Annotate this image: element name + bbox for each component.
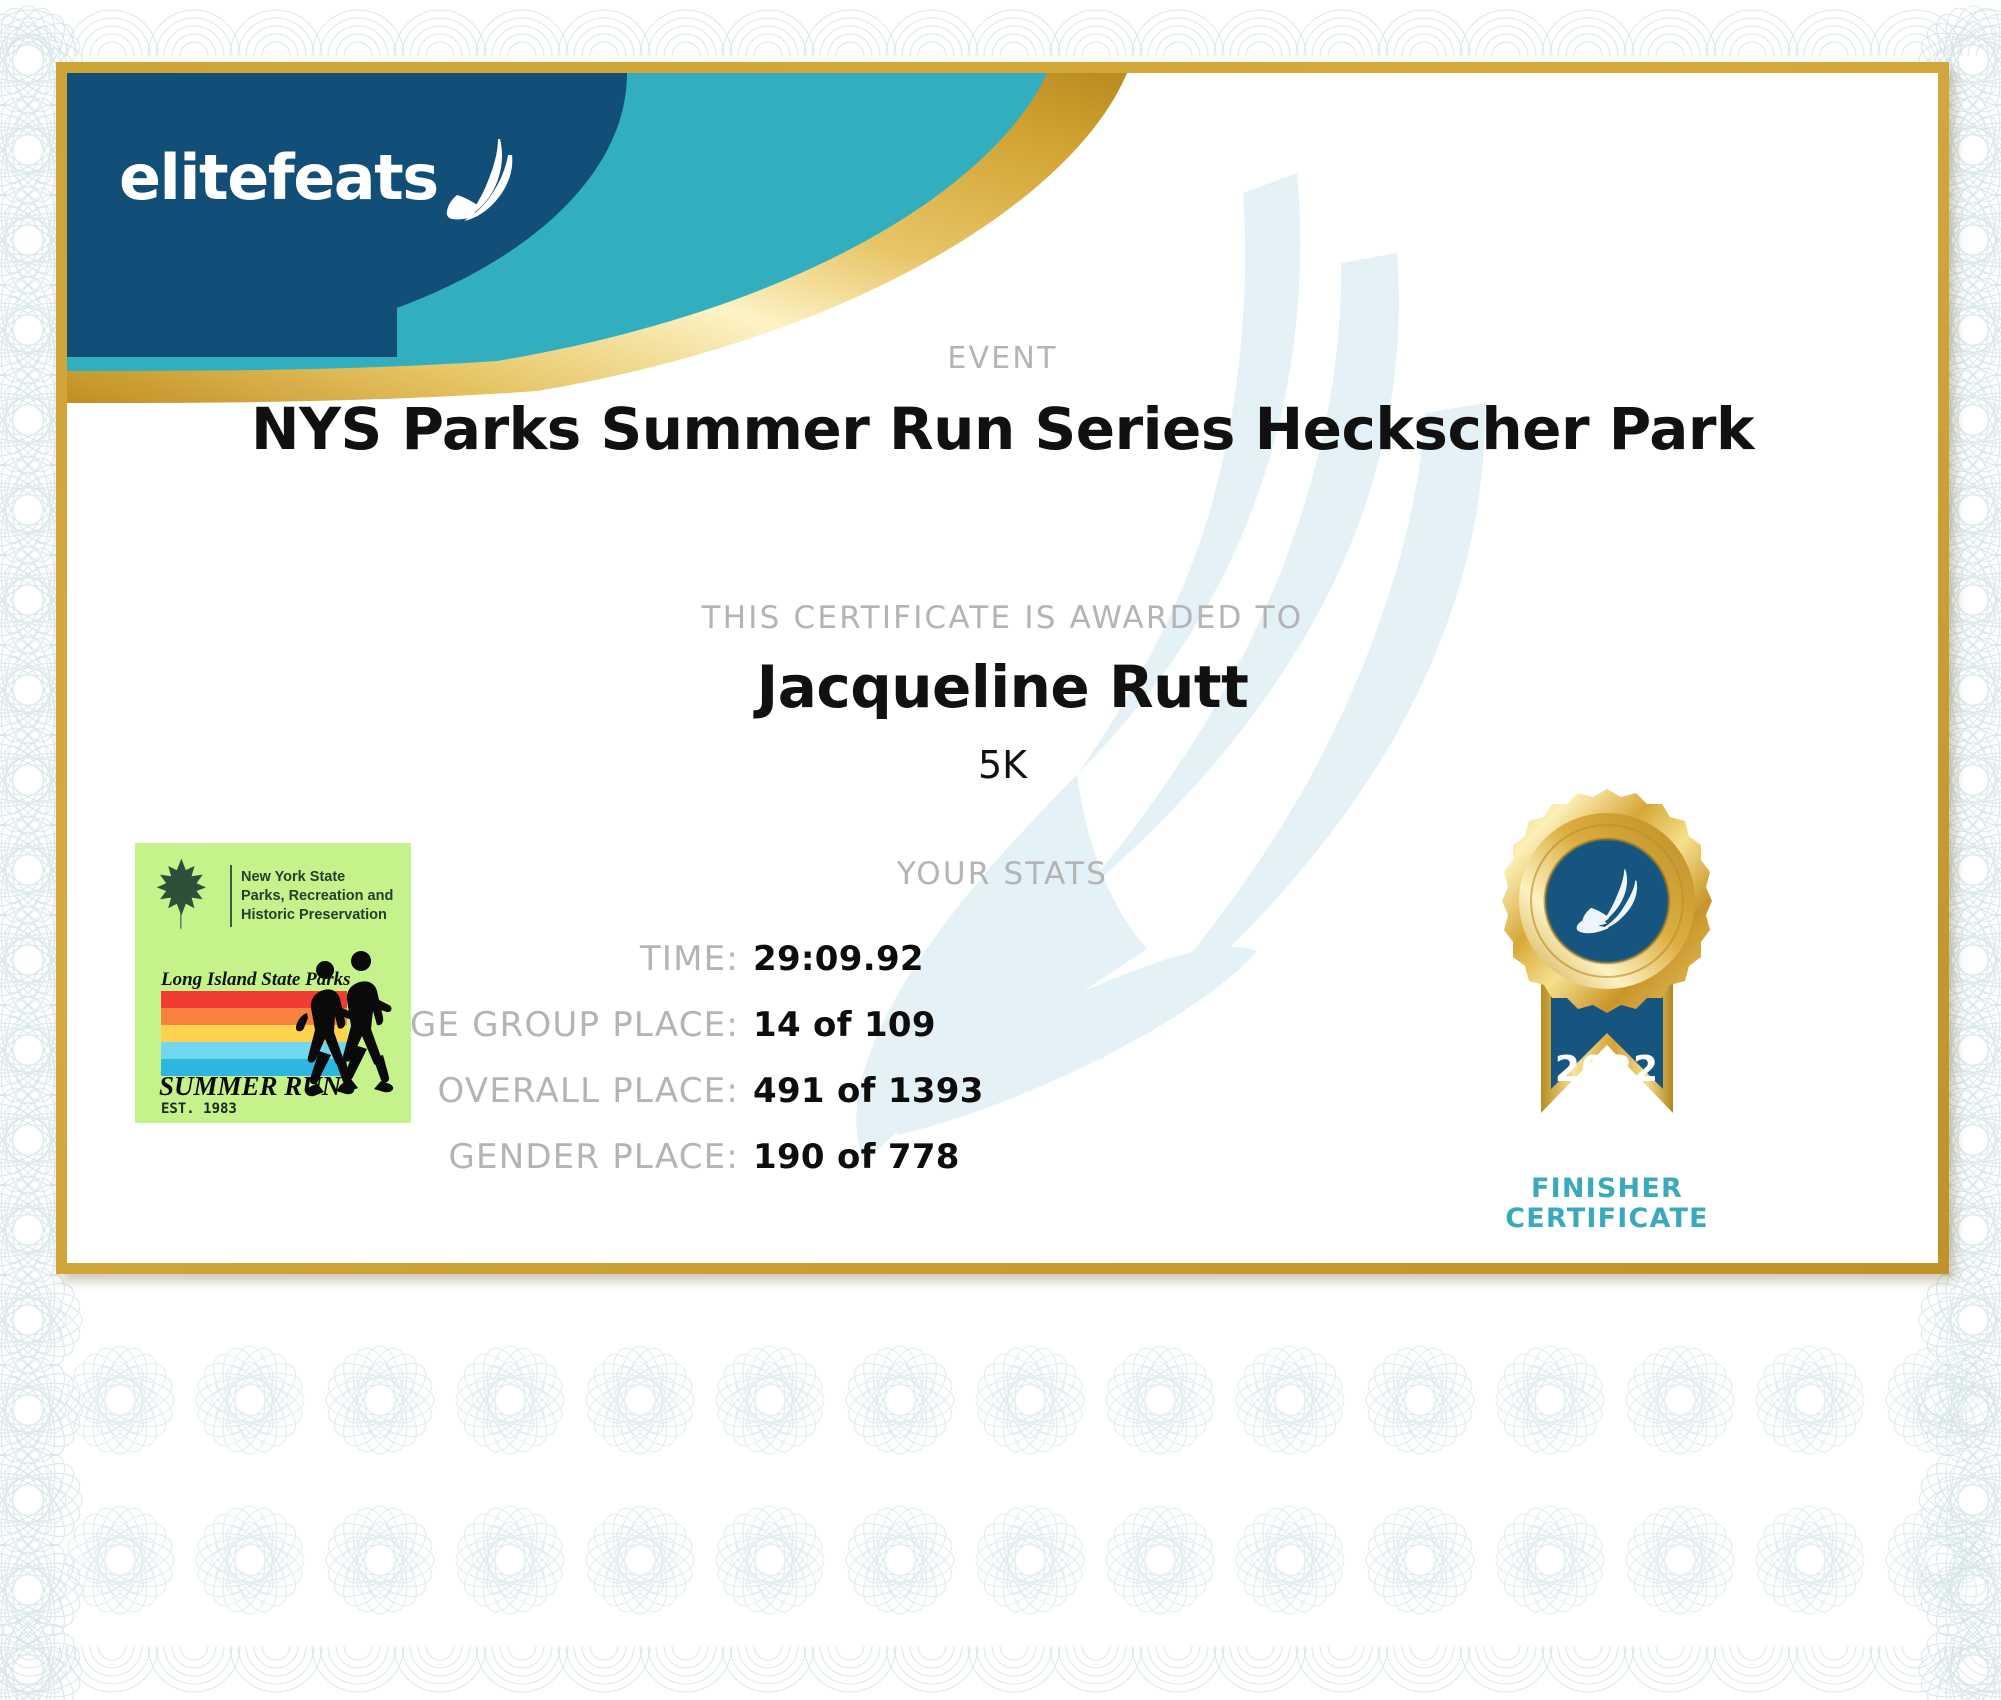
agency-line-1: New York State [241, 869, 345, 885]
medal-rosette [1502, 789, 1712, 1013]
finisher-medal: 2022 FINISHER CERTIFICATE [1467, 783, 1747, 1234]
stat-label: GENDER PLACE: [67, 1137, 739, 1177]
brand-logo: elitefeats [119, 135, 526, 221]
certificate-body: elitefeats EVENT NYS Parks Summer Run Se… [67, 73, 1938, 1263]
medal-graphic: 2022 [1467, 783, 1747, 1163]
svg-text:Parks, Recreation and: Parks, Recreation and [241, 888, 393, 904]
sponsor-logo: New York State Parks, Recreation and His… [135, 843, 411, 1123]
stat-value: 14 of 109 [753, 1005, 936, 1045]
winged-foot-icon [442, 135, 526, 221]
svg-text:Historic Preservation: Historic Preservation [241, 907, 387, 923]
race-distance: 5K [67, 743, 1938, 787]
certificate-page: elitefeats EVENT NYS Parks Summer Run Se… [0, 0, 2001, 1700]
medal-caption-line-1: FINISHER [1467, 1174, 1747, 1204]
brand-wordmark: elitefeats [119, 147, 438, 209]
awarded-to-label: THIS CERTIFICATE IS AWARDED TO [67, 600, 1938, 636]
svg-text:EST. 1983: EST. 1983 [161, 1101, 237, 1117]
event-title: NYS Parks Summer Run Series Heckscher Pa… [67, 395, 1938, 463]
stat-row-gender-place: GENDER PLACE: 190 of 778 [67, 1137, 1277, 1177]
svg-text:SUMMER RUN: SUMMER RUN [159, 1071, 343, 1101]
certificate-gold-frame: elitefeats EVENT NYS Parks Summer Run Se… [56, 62, 1949, 1274]
event-label: EVENT [67, 341, 1938, 376]
stat-value: 29:09.92 [753, 939, 924, 979]
stat-value: 491 of 1393 [753, 1071, 984, 1111]
medal-caption: FINISHER CERTIFICATE [1467, 1174, 1747, 1234]
medal-year: 2022 [1555, 1049, 1659, 1090]
medal-caption-line-2: CERTIFICATE [1467, 1204, 1747, 1234]
stat-value: 190 of 778 [753, 1137, 960, 1177]
recipient-name: Jacqueline Rutt [67, 653, 1938, 721]
